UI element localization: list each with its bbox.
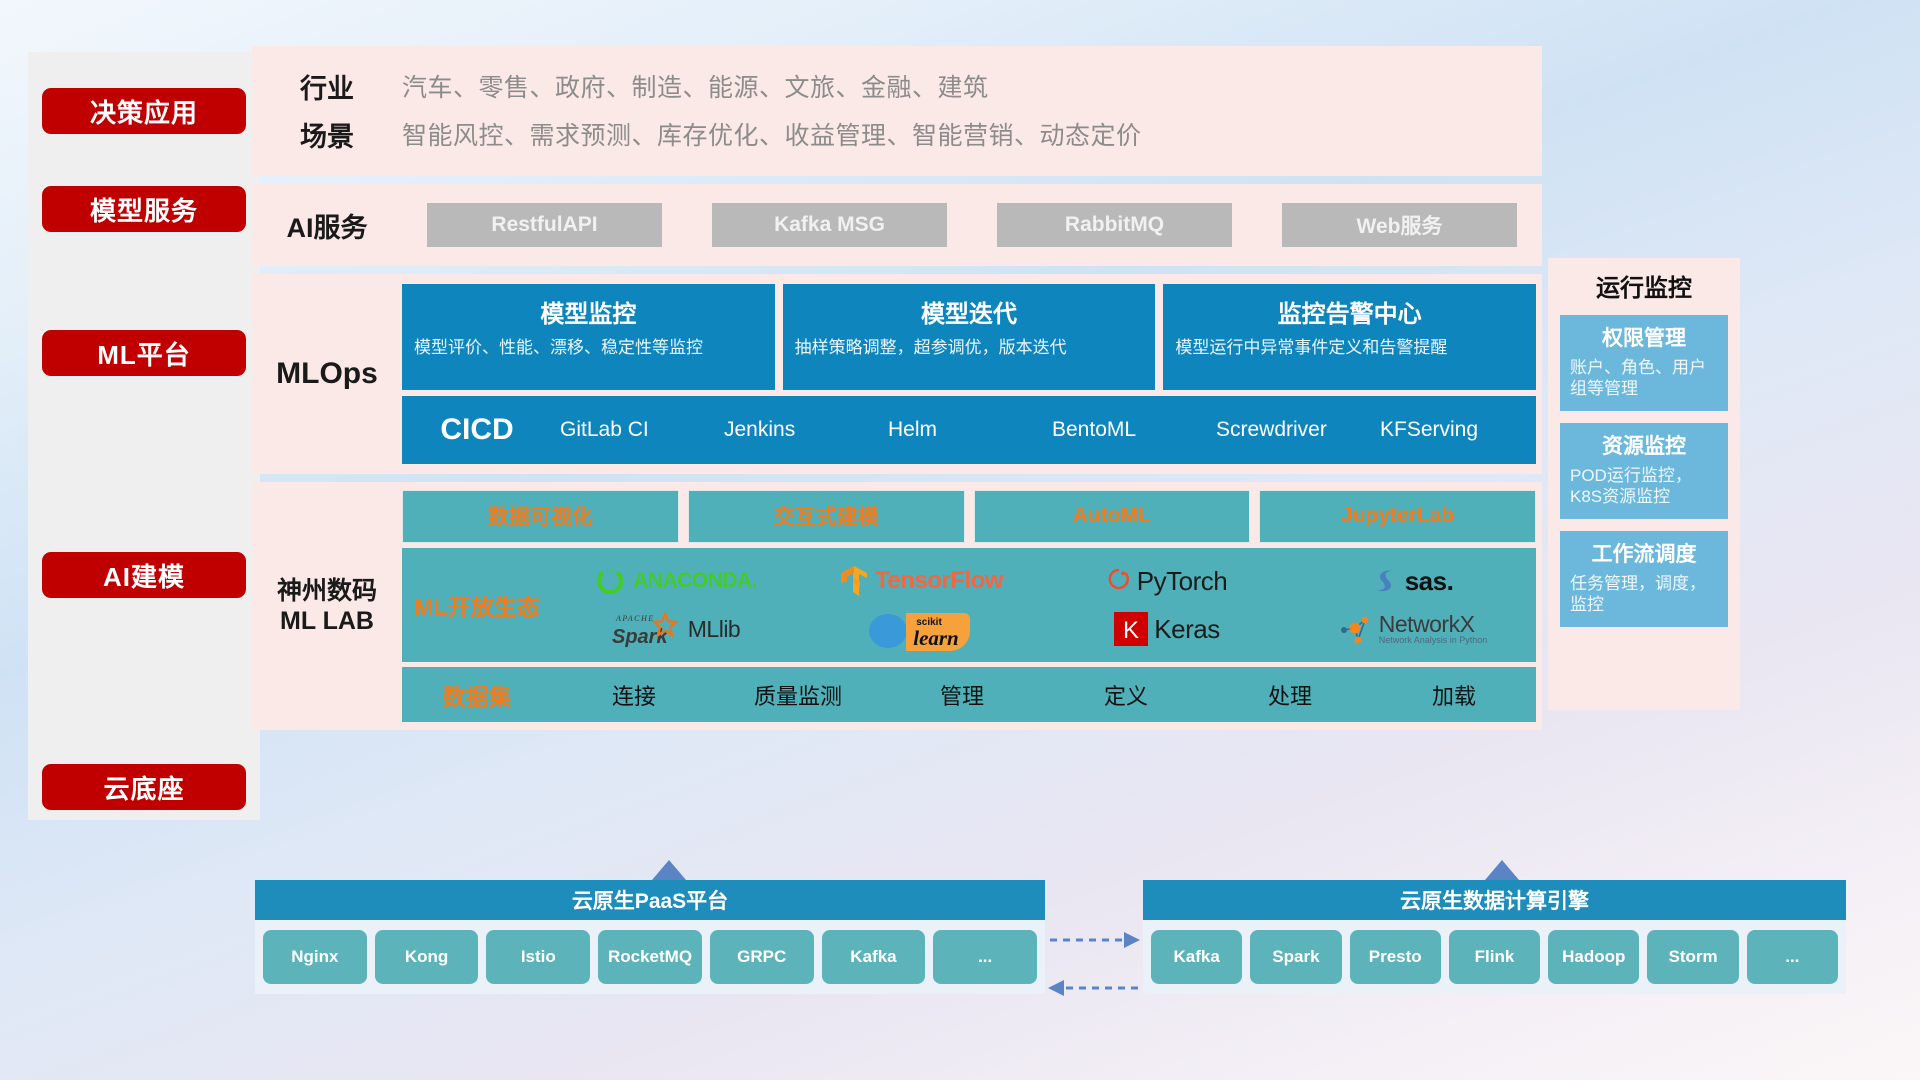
service-chip-restfulapi[interactable]: RestfulAPI [427, 203, 662, 247]
cloud-chip-spark[interactable]: Spark [1250, 930, 1341, 984]
cloud-data-engine-chip-list: Kafka Spark Presto Flink Hadoop Storm ..… [1143, 920, 1846, 994]
card-desc: 模型评价、性能、漂移、稳定性等监控 [414, 337, 763, 358]
cicd-bar: CICD GitLab CI Jenkins Helm BentoML Scre… [402, 396, 1536, 464]
bidirectional-dashed-arrows-icon [1048, 926, 1140, 1000]
cicd-item-bentoml[interactable]: BentoML [1044, 418, 1208, 442]
cloud-paas-group: 云原生PaaS平台 Nginx Kong Istio RocketMQ GRPC… [255, 880, 1045, 994]
mlops-content: 模型监控 模型评价、性能、漂移、稳定性等监控 模型迭代 抽样策略调整，超参调优，… [402, 284, 1542, 464]
dataset-label: 数据集 [402, 678, 552, 712]
logo-keras[interactable]: K Keras [1114, 612, 1219, 646]
logo-pytorch[interactable]: PyTorch [1107, 566, 1227, 597]
dataset-item-connect[interactable]: 连接 [552, 679, 716, 711]
mlops-card-list: 模型监控 模型评价、性能、漂移、稳定性等监控 模型迭代 抽样策略调整，超参调优，… [402, 284, 1536, 390]
mlops-card-alert-center[interactable]: 监控告警中心 模型运行中异常事件定义和告警提醒 [1163, 284, 1536, 390]
card-desc: POD运行监控，K8S资源监控 [1570, 465, 1718, 508]
stage-chip-ai-modeling[interactable]: AI建模 [42, 552, 246, 598]
scikit-learn-icon: scikit learn [866, 605, 976, 653]
cicd-item-list: GitLab CI Jenkins Helm BentoML Screwdriv… [552, 418, 1536, 442]
cloud-chip-more[interactable]: ... [933, 930, 1037, 984]
mlops-band: MLOps 模型监控 模型评价、性能、漂移、稳定性等监控 模型迭代 抽样策略调整… [252, 274, 1542, 474]
monitor-card-resource[interactable]: 资源监控 POD运行监控，K8S资源监控 [1560, 423, 1728, 519]
logo-label: TensorFlow [875, 567, 1003, 595]
dataset-item-process[interactable]: 处理 [1208, 679, 1372, 711]
cicd-label: CICD [402, 413, 552, 447]
logo-label: ANACONDA. [633, 569, 757, 593]
ml-lab-label: 神州数码 ML LAB [252, 490, 402, 722]
card-title: 资源监控 [1570, 430, 1718, 460]
logo-anaconda[interactable]: ANACONDA. [593, 564, 757, 598]
stage-chip-ml-platform[interactable]: ML平台 [42, 330, 246, 376]
cloud-data-engine-group: 云原生数据计算引擎 Kafka Spark Presto Flink Hadoo… [1143, 880, 1846, 994]
cicd-item-helm[interactable]: Helm [880, 418, 1044, 442]
svg-text:K: K [1123, 617, 1139, 644]
ml-ecosystem-logos: ANACONDA. TensorFlow [552, 557, 1536, 653]
networkx-icon [1339, 612, 1373, 646]
stage-rail: 决策应用 模型服务 ML平台 AI建模 云底座 [28, 52, 260, 820]
cloud-chip-kong[interactable]: Kong [375, 930, 479, 984]
cloud-chip-kafka-engine[interactable]: Kafka [1151, 930, 1242, 984]
cloud-chip-flink[interactable]: Flink [1449, 930, 1540, 984]
monitor-card-workflow[interactable]: 工作流调度 任务管理，调度，监控 [1560, 531, 1728, 627]
lab-tab-data-visualization[interactable]: 数据可视化 [402, 490, 679, 543]
cloud-paas-title: 云原生PaaS平台 [255, 880, 1045, 920]
ai-service-list: RestfulAPI Kafka MSG RabbitMQ Web服务 [402, 203, 1542, 247]
service-chip-web[interactable]: Web服务 [1282, 203, 1517, 247]
logo-label: PyTorch [1137, 566, 1227, 597]
cloud-chip-storm[interactable]: Storm [1647, 930, 1738, 984]
cloud-chip-presto[interactable]: Presto [1350, 930, 1441, 984]
logo-sas[interactable]: sas. [1373, 566, 1454, 597]
ml-lab-content: 数据可视化 交互式建模 AutoML JupyterLab ML开放生态 ANA… [402, 490, 1542, 722]
scenario-label: 场景 [252, 115, 402, 154]
dataset-item-define[interactable]: 定义 [1044, 679, 1208, 711]
card-desc: 账户、角色、用户组等管理 [1570, 357, 1718, 400]
ml-lab-label-line2: ML LAB [280, 606, 374, 637]
pytorch-icon [1107, 567, 1131, 595]
cicd-item-screwdriver[interactable]: Screwdriver [1208, 418, 1372, 442]
dataset-item-quality[interactable]: 质量监测 [716, 679, 880, 711]
runtime-monitor-title: 运行监控 [1560, 268, 1728, 303]
dataset-item-load[interactable]: 加载 [1372, 679, 1536, 711]
decision-apps-band: 行业 汽车、零售、政府、制造、能源、文旅、金融、建筑 场景 智能风控、需求预测、… [252, 46, 1542, 176]
cloud-paas-chip-list: Nginx Kong Istio RocketMQ GRPC Kafka ... [255, 920, 1045, 994]
industry-values: 汽车、零售、政府、制造、能源、文旅、金融、建筑 [402, 68, 989, 104]
sas-icon [1373, 566, 1399, 596]
card-title: 工作流调度 [1570, 538, 1718, 568]
card-title: 模型迭代 [795, 294, 1144, 329]
ml-ecosystem-label: ML开放生态 [402, 588, 552, 622]
dataset-item-manage[interactable]: 管理 [880, 679, 1044, 711]
lab-tab-interactive-modeling[interactable]: 交互式建模 [688, 490, 965, 543]
card-desc: 模型运行中异常事件定义和告警提醒 [1175, 337, 1524, 358]
logo-label: Keras [1154, 614, 1219, 645]
cloud-data-engine-title: 云原生数据计算引擎 [1143, 880, 1846, 920]
cicd-item-gitlab-ci[interactable]: GitLab CI [552, 418, 716, 442]
mlops-card-model-monitoring[interactable]: 模型监控 模型评价、性能、漂移、稳定性等监控 [402, 284, 775, 390]
runtime-monitor-panel: 运行监控 权限管理 账户、角色、用户组等管理 资源监控 POD运行监控，K8S资… [1548, 258, 1740, 710]
architecture-main: 行业 汽车、零售、政府、制造、能源、文旅、金融、建筑 场景 智能风控、需求预测、… [252, 46, 1542, 730]
cloud-chip-rocketmq[interactable]: RocketMQ [598, 930, 702, 984]
card-title: 监控告警中心 [1175, 294, 1524, 329]
keras-icon: K [1114, 612, 1148, 646]
networkx-subtitle: Network Analysis in Python [1379, 636, 1488, 645]
cloud-chip-grpc[interactable]: GRPC [710, 930, 814, 984]
logo-spark-mllib[interactable]: APACHE Spark MLlib [610, 608, 740, 650]
cloud-chip-hadoop[interactable]: Hadoop [1548, 930, 1639, 984]
cloud-chip-nginx[interactable]: Nginx [263, 930, 367, 984]
cicd-item-kfserving[interactable]: KFServing [1372, 418, 1536, 442]
lab-tab-jupyterlab[interactable]: JupyterLab [1259, 490, 1536, 543]
card-desc: 任务管理，调度，监控 [1570, 573, 1718, 616]
logo-scikit-learn[interactable]: scikit learn [866, 605, 976, 653]
mlops-label: MLOps [252, 284, 402, 464]
logo-tensorflow[interactable]: TensorFlow [839, 564, 1003, 598]
logo-label: NetworkX [1379, 613, 1488, 636]
mlops-card-model-iteration[interactable]: 模型迭代 抽样策略调整，超参调优，版本迭代 [783, 284, 1156, 390]
cloud-chip-kafka[interactable]: Kafka [822, 930, 926, 984]
cloud-chip-more-right[interactable]: ... [1747, 930, 1838, 984]
anaconda-icon [593, 564, 627, 598]
scenario-row: 场景 智能风控、需求预测、库存优化、收益管理、智能营销、动态定价 [252, 110, 1542, 158]
monitor-card-permission[interactable]: 权限管理 账户、角色、用户组等管理 [1560, 315, 1728, 411]
logo-networkx[interactable]: NetworkX Network Analysis in Python [1339, 612, 1488, 646]
ai-service-band: AI服务 RestfulAPI Kafka MSG RabbitMQ Web服务 [252, 184, 1542, 266]
card-title: 模型监控 [414, 294, 763, 329]
logo-label: sas. [1405, 566, 1454, 597]
ml-lab-tab-list: 数据可视化 交互式建模 AutoML JupyterLab [402, 490, 1536, 543]
industry-row: 行业 汽车、零售、政府、制造、能源、文旅、金融、建筑 [252, 62, 1542, 110]
cloud-chip-istio[interactable]: Istio [486, 930, 590, 984]
dataset-bar: 数据集 连接 质量监测 管理 定义 处理 加载 [402, 667, 1536, 722]
ml-ecosystem-bar: ML开放生态 ANACONDA. [402, 548, 1536, 663]
dataset-item-list: 连接 质量监测 管理 定义 处理 加载 [552, 679, 1536, 711]
tensorflow-icon [839, 564, 869, 598]
industry-label: 行业 [252, 67, 402, 106]
stage-chip-model-service[interactable]: 模型服务 [42, 186, 246, 232]
card-desc: 抽样策略调整，超参调优，版本迭代 [795, 337, 1144, 358]
card-title: 权限管理 [1570, 322, 1718, 352]
stage-chip-cloud-base[interactable]: 云底座 [42, 764, 246, 810]
lab-tab-automl[interactable]: AutoML [974, 490, 1251, 543]
scenario-values: 智能风控、需求预测、库存优化、收益管理、智能营销、动态定价 [402, 116, 1142, 152]
ml-lab-label-line1: 神州数码 [277, 576, 377, 607]
spark-icon: APACHE Spark [610, 608, 682, 650]
stage-chip-decision[interactable]: 决策应用 [42, 88, 246, 134]
ai-service-label: AI服务 [252, 206, 402, 245]
service-chip-kafka-msg[interactable]: Kafka MSG [712, 203, 947, 247]
ml-lab-band: 神州数码 ML LAB 数据可视化 交互式建模 AutoML JupyterLa… [252, 482, 1542, 730]
svg-text:learn: learn [913, 626, 959, 650]
svg-text:APACHE: APACHE [615, 614, 655, 623]
service-chip-rabbitmq[interactable]: RabbitMQ [997, 203, 1232, 247]
logo-label: MLlib [688, 616, 740, 643]
cicd-item-jenkins[interactable]: Jenkins [716, 418, 880, 442]
